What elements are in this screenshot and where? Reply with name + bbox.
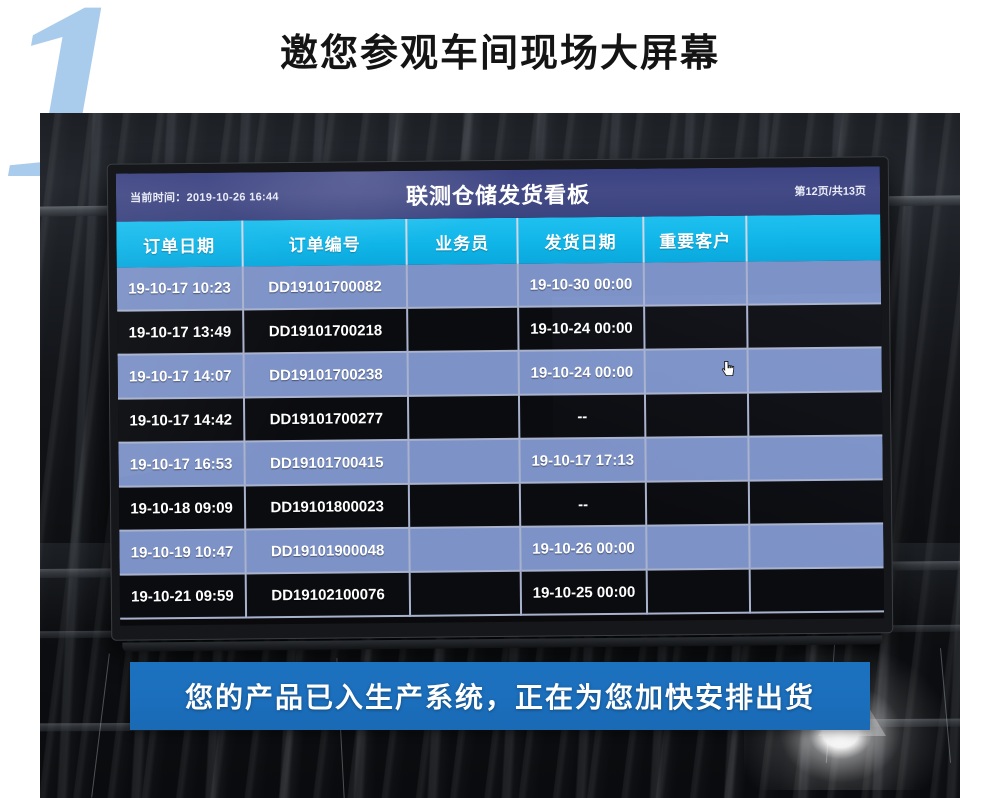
- cell-order-number: DD19102100076: [246, 572, 411, 618]
- cell-order-date: 19-10-17 16:53: [118, 441, 244, 486]
- cell-ship-date: 19-10-26 00:00: [520, 526, 646, 571]
- cell-order-number: DD19101700415: [244, 440, 409, 486]
- cell-key-customer: [644, 305, 748, 350]
- cell-extra: [749, 479, 883, 524]
- cell-order-date: 19-10-18 09:09: [119, 485, 245, 530]
- table-row[interactable]: 19-10-21 09:59DD1910210007619-10-25 00:0…: [120, 567, 884, 618]
- cell-order-number: DD19101700277: [244, 396, 409, 442]
- table-row[interactable]: 19-10-17 14:07DD1910170023819-10-24 00:0…: [118, 347, 882, 398]
- column-header-order-date[interactable]: 订单日期: [116, 220, 242, 267]
- cell-ship-date: --: [520, 482, 646, 527]
- cell-extra: [750, 567, 884, 612]
- cell-order-date: 19-10-17 14:42: [118, 397, 244, 442]
- cell-extra: [749, 523, 883, 568]
- bottom-banner-text: 您的产品已入生产系统，正在为您加快安排出货: [185, 676, 815, 716]
- cell-order-date: 19-10-21 09:59: [120, 573, 246, 618]
- table-body: 19-10-17 10:23DD1910170008219-10-30 00:0…: [117, 260, 884, 618]
- cell-extra: [747, 260, 881, 304]
- column-header-salesperson[interactable]: 业务员: [407, 218, 518, 265]
- cell-ship-date: 19-10-30 00:00: [518, 263, 644, 307]
- tv-screen: 当前时间：2019-10-26 16:44 联测仓储发货看板 第12页/共13页…: [116, 166, 884, 625]
- dashboard-clock: 当前时间：2019-10-26 16:44: [130, 188, 279, 205]
- cell-extra: [749, 435, 883, 480]
- cell-salesperson: [408, 351, 519, 396]
- cell-key-customer: [646, 525, 750, 570]
- cell-key-customer: [644, 262, 748, 306]
- column-header-ship-date[interactable]: 发货日期: [517, 217, 643, 264]
- cell-key-customer: [646, 481, 750, 526]
- table-row[interactable]: 19-10-18 09:09DD19101800023--: [119, 479, 883, 530]
- cell-extra: [748, 391, 882, 436]
- cell-ship-date: --: [519, 394, 645, 439]
- column-header-order-number[interactable]: 订单编号: [242, 219, 407, 267]
- cell-order-number: DD19101700238: [244, 352, 409, 398]
- cell-key-customer: [646, 437, 750, 482]
- wall-mounted-tv: 当前时间：2019-10-26 16:44 联测仓储发货看板 第12页/共13页…: [108, 157, 893, 639]
- table-row[interactable]: 19-10-17 10:23DD1910170008219-10-30 00:0…: [117, 260, 881, 310]
- column-header-extra[interactable]: [747, 214, 881, 261]
- table-header-row: 订单日期 订单编号 业务员 发货日期 重要客户: [116, 214, 880, 267]
- cell-extra: [747, 303, 881, 348]
- bottom-banner: 您的产品已入生产系统，正在为您加快安排出货: [130, 662, 870, 730]
- cell-ship-date: 19-10-17 17:13: [519, 438, 645, 483]
- cell-salesperson: [407, 307, 518, 352]
- dashboard-page-indicator: 第12页/共13页: [794, 182, 866, 199]
- cell-order-date: 19-10-17 13:49: [117, 309, 243, 354]
- column-header-key-customer[interactable]: 重要客户: [643, 216, 747, 263]
- table-row[interactable]: 19-10-17 16:53DD1910170041519-10-17 17:1…: [118, 435, 882, 486]
- table-row[interactable]: 19-10-19 10:47DD1910190004819-10-26 00:0…: [119, 523, 883, 574]
- cell-salesperson: [409, 439, 520, 484]
- cell-salesperson: [408, 395, 519, 440]
- cell-salesperson: [407, 264, 518, 308]
- cell-order-number: DD19101800023: [245, 484, 410, 530]
- cell-salesperson: [409, 483, 520, 528]
- cell-order-date: 19-10-17 14:07: [118, 353, 244, 398]
- cell-order-date: 19-10-17 10:23: [117, 266, 243, 310]
- hand-pointer-cursor: [722, 361, 735, 378]
- cell-order-number: DD19101900048: [245, 528, 410, 574]
- cell-ship-date: 19-10-25 00:00: [521, 570, 647, 615]
- cell-order-number: DD19101700218: [243, 308, 408, 354]
- cell-key-customer: [647, 569, 751, 614]
- cell-salesperson: [410, 527, 521, 572]
- cell-salesperson: [410, 571, 521, 616]
- cell-ship-date: 19-10-24 00:00: [519, 350, 645, 395]
- dashboard-header: 当前时间：2019-10-26 16:44 联测仓储发货看板 第12页/共13页: [116, 166, 880, 221]
- cell-order-date: 19-10-19 10:47: [119, 529, 245, 574]
- cell-extra: [748, 347, 882, 392]
- cell-order-number: DD19101700082: [243, 265, 408, 310]
- cell-ship-date: 19-10-24 00:00: [518, 306, 644, 351]
- page-title: 邀您参观车间现场大屏幕: [0, 22, 1000, 77]
- table-row[interactable]: 19-10-17 14:42DD19101700277--: [118, 391, 882, 442]
- shipment-board-table: 订单日期 订单编号 业务员 发货日期 重要客户 19-10-17 10:23DD…: [116, 214, 884, 619]
- table-row[interactable]: 19-10-17 13:49DD1910170021819-10-24 00:0…: [117, 303, 881, 354]
- cell-key-customer: [645, 393, 749, 438]
